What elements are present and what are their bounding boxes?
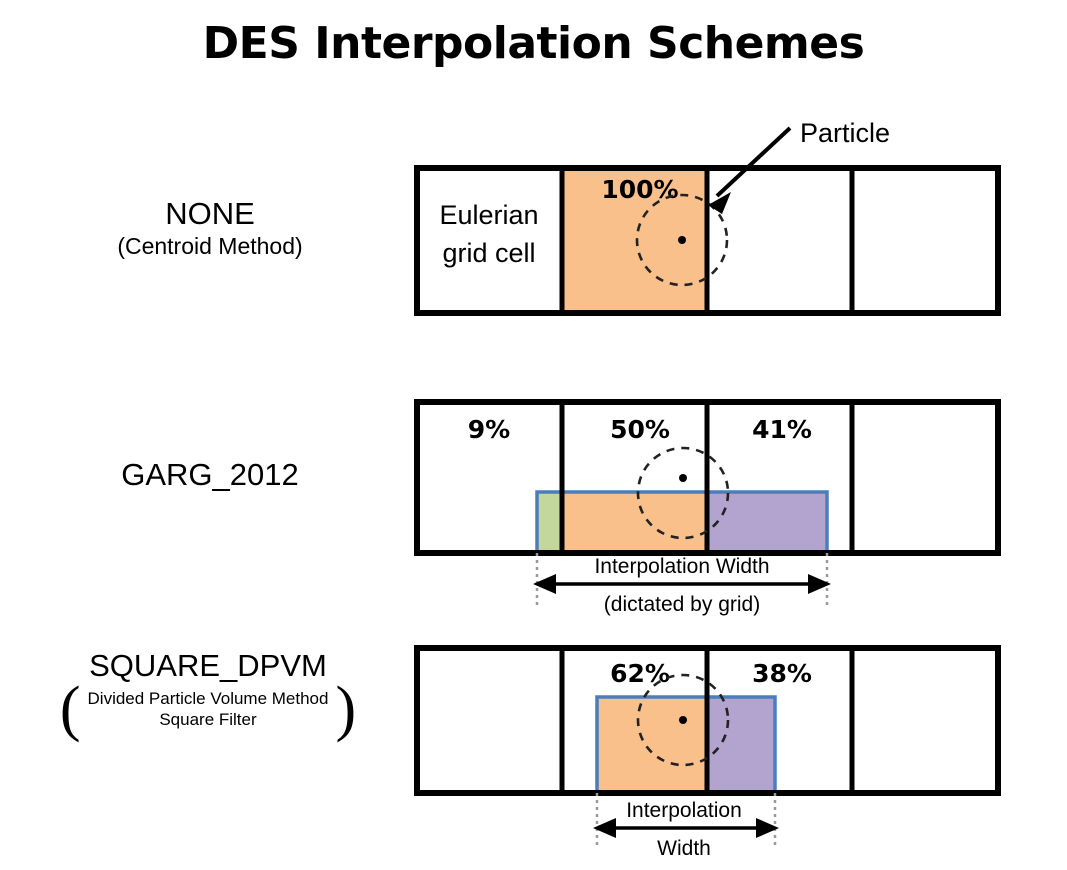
row-garg-pct-cell-3: 41% <box>752 415 812 444</box>
row-garg-width-label-bottom: (dictated by grid) <box>604 593 760 616</box>
row-square-dpvm-width-label-bottom: Width <box>657 837 711 860</box>
eulerian-label-line2: grid cell <box>442 238 535 268</box>
eulerian-label-line1: Eulerian <box>439 200 538 230</box>
row-square-dpvm-width-label-top: Interpolation <box>626 799 742 822</box>
row-square-dpvm-pct-cell-3: 38% <box>752 659 812 688</box>
row-garg-fill-green <box>537 492 562 553</box>
row-garg-width-label-top: Interpolation Width <box>594 555 769 578</box>
particle-label: Particle <box>800 118 890 148</box>
row-garg-pct-cell-2: 50% <box>610 415 670 444</box>
row-none-pct-cell-2: 100% <box>601 175 678 204</box>
diagram-page: DES Interpolation Schemes NONE (Centroid… <box>0 0 1067 870</box>
row-square-dpvm-fill-purple <box>707 697 775 793</box>
row-square-dpvm-fill-orange <box>597 697 707 793</box>
row-square-dpvm-pct-cell-2: 62% <box>610 659 670 688</box>
row-square-dpvm-particle-dot <box>679 716 687 724</box>
row-garg-fill-orange <box>562 492 707 553</box>
row-square-dpvm-grid <box>417 648 998 793</box>
row-garg-fill-purple <box>707 492 827 553</box>
row-none-particle-dot <box>678 236 686 244</box>
interpolation-diagram: Eulerian grid cell 100% Particle 9% 50% … <box>0 0 1067 870</box>
particle-callout-line <box>717 128 790 196</box>
row-garg-pct-cell-1: 9% <box>468 415 510 444</box>
row-garg-particle-dot <box>679 474 687 482</box>
